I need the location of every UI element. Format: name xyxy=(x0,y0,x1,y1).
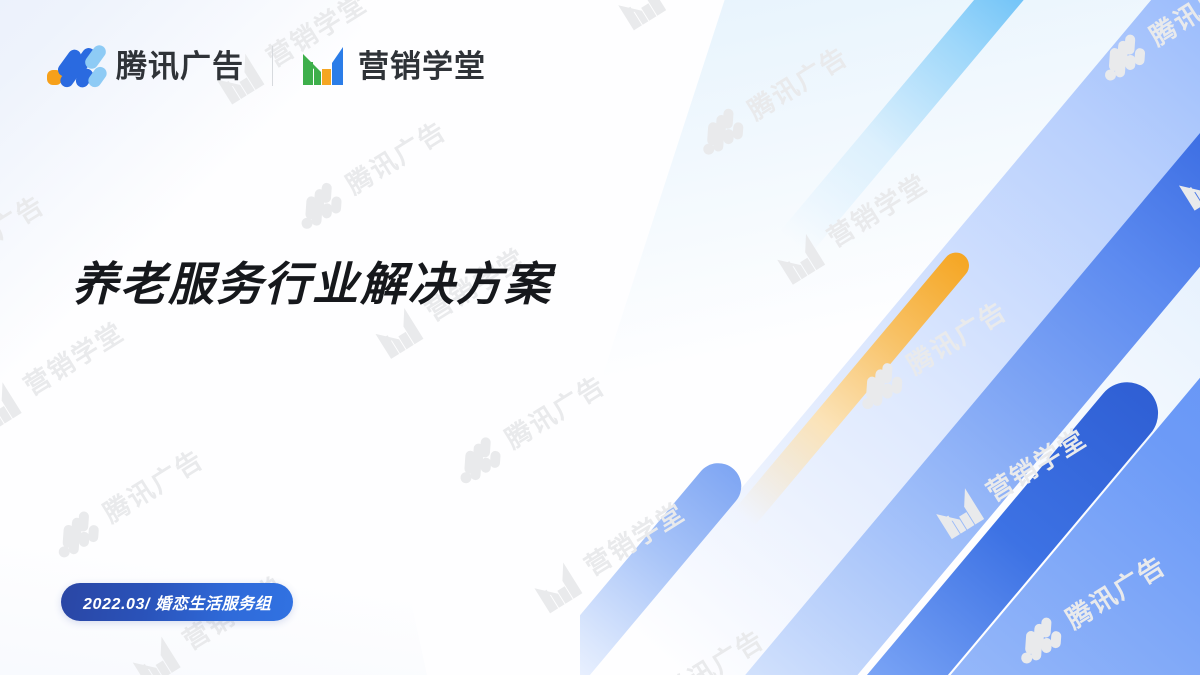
marketing-academy-m-logo-icon xyxy=(301,45,345,87)
background-wash-bottom-left xyxy=(0,356,467,675)
brand-tencent-ads: 腾讯广告 xyxy=(47,44,244,88)
watermark-label: 营销学堂 xyxy=(20,318,129,399)
watermark-label: 腾讯广告 xyxy=(99,445,208,526)
tencent-ads-dots-logo-icon xyxy=(46,508,105,562)
marketing-academy-m-logo-icon xyxy=(526,558,588,617)
watermark-tile: 腾讯广告 xyxy=(0,357,15,675)
date-team-badge: 2022.03/ 婚恋生活服务组 xyxy=(61,583,293,621)
marketing-academy-m-logo-icon xyxy=(0,378,27,437)
watermark-label: 腾讯广告 xyxy=(0,191,49,272)
watermark-tile: 腾讯广告 xyxy=(99,0,501,28)
brand-marketing-academy-label: 营销学堂 xyxy=(358,51,486,82)
watermark-tile: 腾讯广告 xyxy=(15,283,417,612)
slide-title: 养老服务行业解决方案 xyxy=(72,258,552,311)
date-team-badge-label: 2022.03/ 婚恋生活服务组 xyxy=(83,590,271,614)
watermark-tile: 营销学堂 xyxy=(0,484,95,675)
marketing-academy-m-logo-icon xyxy=(367,304,429,363)
decorative-diagonal-bars-graphic xyxy=(580,0,1200,675)
tencent-ads-dots-logo-icon xyxy=(289,179,348,233)
watermark-tile: 营销学堂 xyxy=(95,410,497,675)
watermark-tile: 营销学堂 xyxy=(0,155,338,484)
brand-tencent-ads-label: 腾讯广告 xyxy=(116,51,244,82)
tencent-ads-dots-logo-icon xyxy=(47,44,103,88)
tencent-ads-dots-logo-icon xyxy=(448,434,507,488)
presentation-slide: 腾讯广告营销学堂腾讯广告营销学堂腾讯广告营销学堂腾讯广告营销学堂腾讯广告营销学堂… xyxy=(0,0,1200,675)
header-brand-lockup: 腾讯广告 营销学堂 xyxy=(47,44,486,88)
marketing-academy-m-logo-icon xyxy=(124,632,186,675)
brand-marketing-academy: 营销学堂 xyxy=(301,45,486,87)
watermark-tile: 营销学堂 xyxy=(0,0,179,230)
brand-divider xyxy=(272,46,273,86)
watermark-label: 腾讯广告 xyxy=(342,117,451,198)
